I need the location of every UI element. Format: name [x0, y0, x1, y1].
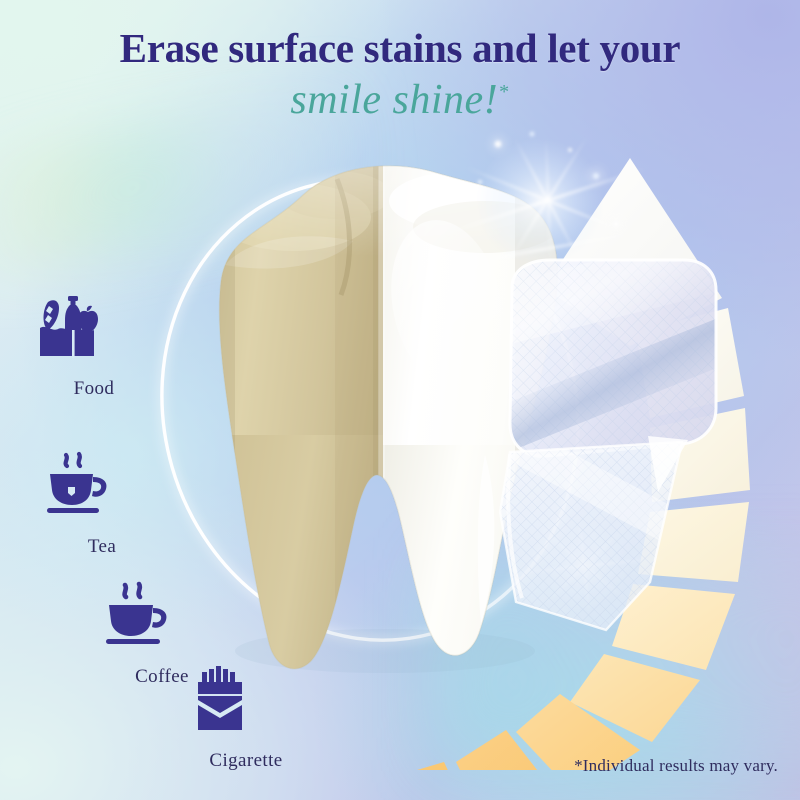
cause-tea[interactable]: Tea [36, 446, 168, 558]
teacup-icon [36, 446, 168, 526]
grocery-bag-icon [28, 288, 160, 368]
coffee-cup-icon [96, 576, 228, 656]
cigarette-pack-icon [180, 660, 312, 740]
whitening-strips-advertisement: Erase surface stains and let your smile … [0, 0, 800, 800]
cause-tea-label: Tea [88, 536, 116, 557]
cause-cigarette[interactable]: Cigarette [180, 660, 312, 772]
cause-food[interactable]: Food [28, 288, 160, 400]
cause-cigarette-label: Cigarette [209, 750, 282, 771]
stain-causes-list: Food [0, 0, 800, 800]
cause-food-label: Food [74, 378, 115, 399]
disclaimer-text: *Individual results may vary. [574, 756, 778, 776]
